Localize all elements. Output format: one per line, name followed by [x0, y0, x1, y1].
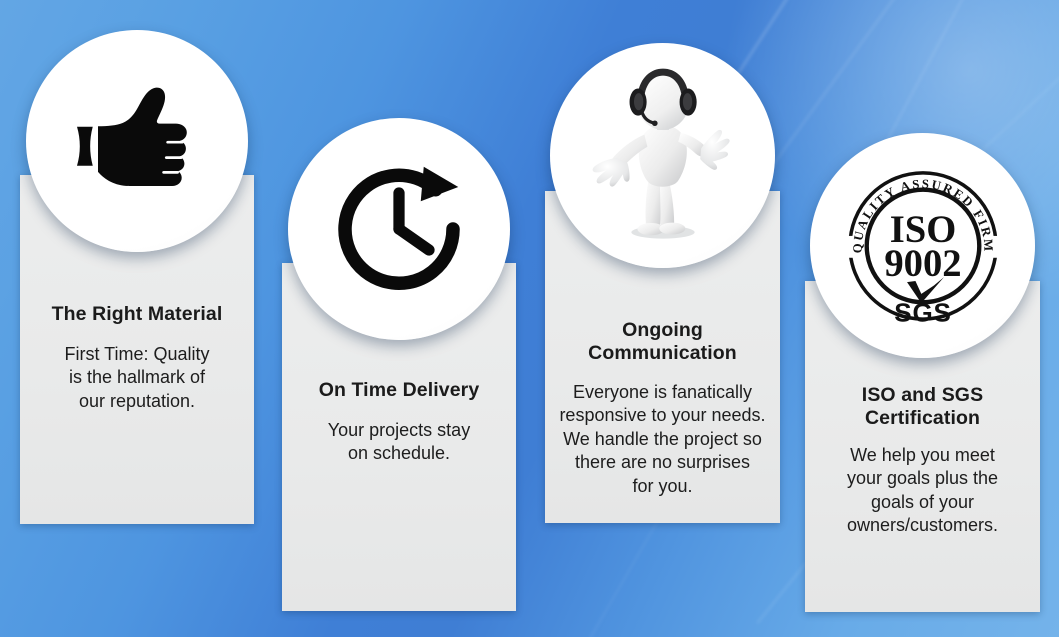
card-the-right-material: The Right Material First Time: Quality i…: [20, 30, 254, 524]
iso-sgs-seal-icon: QUALITY ASSURED FIRM ISO 9002 SGS: [810, 133, 1035, 358]
card-body-line: our reputation.: [32, 390, 242, 413]
card-body-line: on schedule.: [294, 442, 504, 465]
card-title-line: Certification: [817, 407, 1028, 430]
card-title: ISO and SGS Certification: [817, 384, 1028, 430]
card-title: On Time Delivery: [294, 379, 504, 402]
card-body-line: goals of your: [817, 491, 1028, 514]
card-title: The Right Material: [32, 303, 242, 326]
thumbs-up-icon: [26, 30, 248, 252]
card-body-line: We help you meet: [817, 444, 1028, 467]
card-icon-circle: [550, 43, 775, 268]
card-icon-circle: [26, 30, 248, 252]
card-body: Your projects stay on schedule.: [294, 419, 504, 466]
card-body-line: We handle the project so: [557, 428, 768, 451]
card-icon-circle: [288, 118, 510, 340]
card-body: First Time: Quality is the hallmark of o…: [32, 343, 242, 413]
card-body: Everyone is fanatically responsive to yo…: [557, 381, 768, 498]
card-body-line: First Time: Quality: [32, 343, 242, 366]
card-title-line: ISO and SGS: [817, 384, 1028, 407]
card-body: We help you meet your goals plus the goa…: [817, 444, 1028, 538]
card-body-line: Everyone is fanatically: [557, 381, 768, 404]
card-body-line: Your projects stay: [294, 419, 504, 442]
seal-number-text: 9002: [884, 243, 961, 285]
card-title-line: Ongoing: [557, 319, 768, 342]
seal-certifier-text: SGS: [894, 297, 952, 327]
card-on-time-delivery: On Time Delivery Your projects stay on s…: [282, 118, 516, 611]
card-body-line: responsive to your needs.: [557, 404, 768, 427]
card-body-line: is the hallmark of: [32, 366, 242, 389]
card-iso-sgs-certification: ISO and SGS Certification We help you me…: [805, 133, 1040, 612]
card-title: Ongoing Communication: [557, 319, 768, 365]
card-body-line: your goals plus the: [817, 467, 1028, 490]
card-body-line: for you.: [557, 475, 768, 498]
card-title-line: Communication: [557, 342, 768, 365]
card-body-line: there are no surprises: [557, 451, 768, 474]
headset-person-icon: [550, 43, 775, 268]
card-icon-circle: QUALITY ASSURED FIRM ISO 9002 SGS: [810, 133, 1035, 358]
card-body-line: owners/customers.: [817, 514, 1028, 537]
card-ongoing-communication: Ongoing Communication Everyone is fanati…: [545, 43, 780, 523]
clock-arrow-icon: [288, 118, 510, 340]
infographic-canvas: The Right Material First Time: Quality i…: [0, 0, 1059, 637]
